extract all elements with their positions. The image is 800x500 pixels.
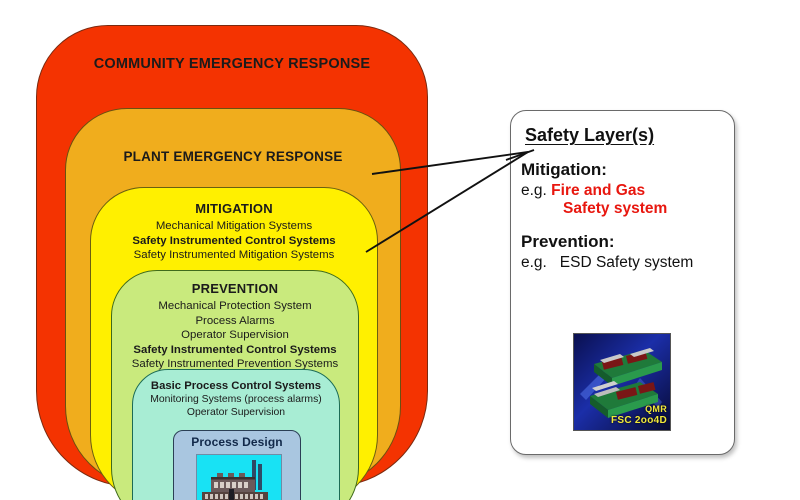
layer-title-plant: PLANT EMERGENCY RESPONSE xyxy=(66,109,400,164)
process-design-title: Process Design xyxy=(174,431,300,449)
safety-layers-panel: Safety Layer(s) Mitigation: e.g. Fire an… xyxy=(510,110,735,455)
panel-heading-mitigation: Mitigation: xyxy=(521,160,734,180)
layer-basic-process-control: Basic Process Control Systems Monitoring… xyxy=(132,369,340,500)
process-design-box: Process Design xyxy=(173,430,301,500)
layer-community-emergency-response: COMMUNITY EMERGENCY RESPONSE PLANT EMERG… xyxy=(36,25,428,487)
hardware-label-bottom: FSC 2oo4D xyxy=(611,415,667,426)
layer-mitigation: MITIGATION Mechanical Mitigation Systems… xyxy=(90,187,378,500)
layer-lines-bpcs: Monitoring Systems (process alarms) Oper… xyxy=(133,393,339,419)
layer-line: Mechanical Mitigation Systems xyxy=(91,219,377,234)
layer-line: Mechanical Protection System xyxy=(112,299,358,314)
panel-eg-value: Fire and Gas xyxy=(551,182,645,199)
layer-line: Operator Supervision xyxy=(112,328,358,343)
panel-eg-prefix: e.g. xyxy=(521,254,547,271)
panel-heading-prevention: Prevention: xyxy=(521,232,734,252)
panel-title: Safety Layer(s) xyxy=(525,125,734,146)
panel-example-prevention: e.g. ESD Safety system xyxy=(521,254,734,272)
layer-title-community: COMMUNITY EMERGENCY RESPONSE xyxy=(37,26,427,72)
layer-line: Process Alarms xyxy=(112,314,358,329)
layer-lines-prevention: Mechanical Protection System Process Ala… xyxy=(112,299,358,372)
layer-lines-mitigation: Mechanical Mitigation Systems Safety Ins… xyxy=(91,219,377,263)
layer-line: Safety Instrumented Mitigation Systems xyxy=(91,248,377,263)
layer-line: Safety Instrumented Control Systems xyxy=(91,234,377,249)
panel-eg-prefix: e.g. xyxy=(521,182,547,199)
plant-illustration xyxy=(197,455,281,500)
layer-title-mitigation: MITIGATION xyxy=(91,188,377,216)
panel-example-mitigation: e.g. Fire and Gas xyxy=(521,182,734,200)
industrial-plant-photo xyxy=(196,454,282,500)
fsc-controller-photo: QMR FSC 2oo4D xyxy=(573,333,671,431)
panel-example-mitigation-line2: Safety system xyxy=(563,200,734,218)
panel-eg-value: ESD Safety system xyxy=(560,254,694,271)
diagram-canvas: COMMUNITY EMERGENCY RESPONSE PLANT EMERG… xyxy=(0,0,800,500)
layer-prevention: PREVENTION Mechanical Protection System … xyxy=(111,270,359,500)
layer-title-prevention: PREVENTION xyxy=(112,271,358,296)
layer-title-bpcs: Basic Process Control Systems xyxy=(133,370,339,392)
layer-line: Safety Instrumented Control Systems xyxy=(112,343,358,358)
layer-plant-emergency-response: PLANT EMERGENCY RESPONSE MITIGATION Mech… xyxy=(65,108,401,488)
hardware-label-top: QMR xyxy=(645,404,667,414)
layer-line: Operator Supervision xyxy=(133,406,339,419)
layer-line: Monitoring Systems (process alarms) xyxy=(133,393,339,406)
